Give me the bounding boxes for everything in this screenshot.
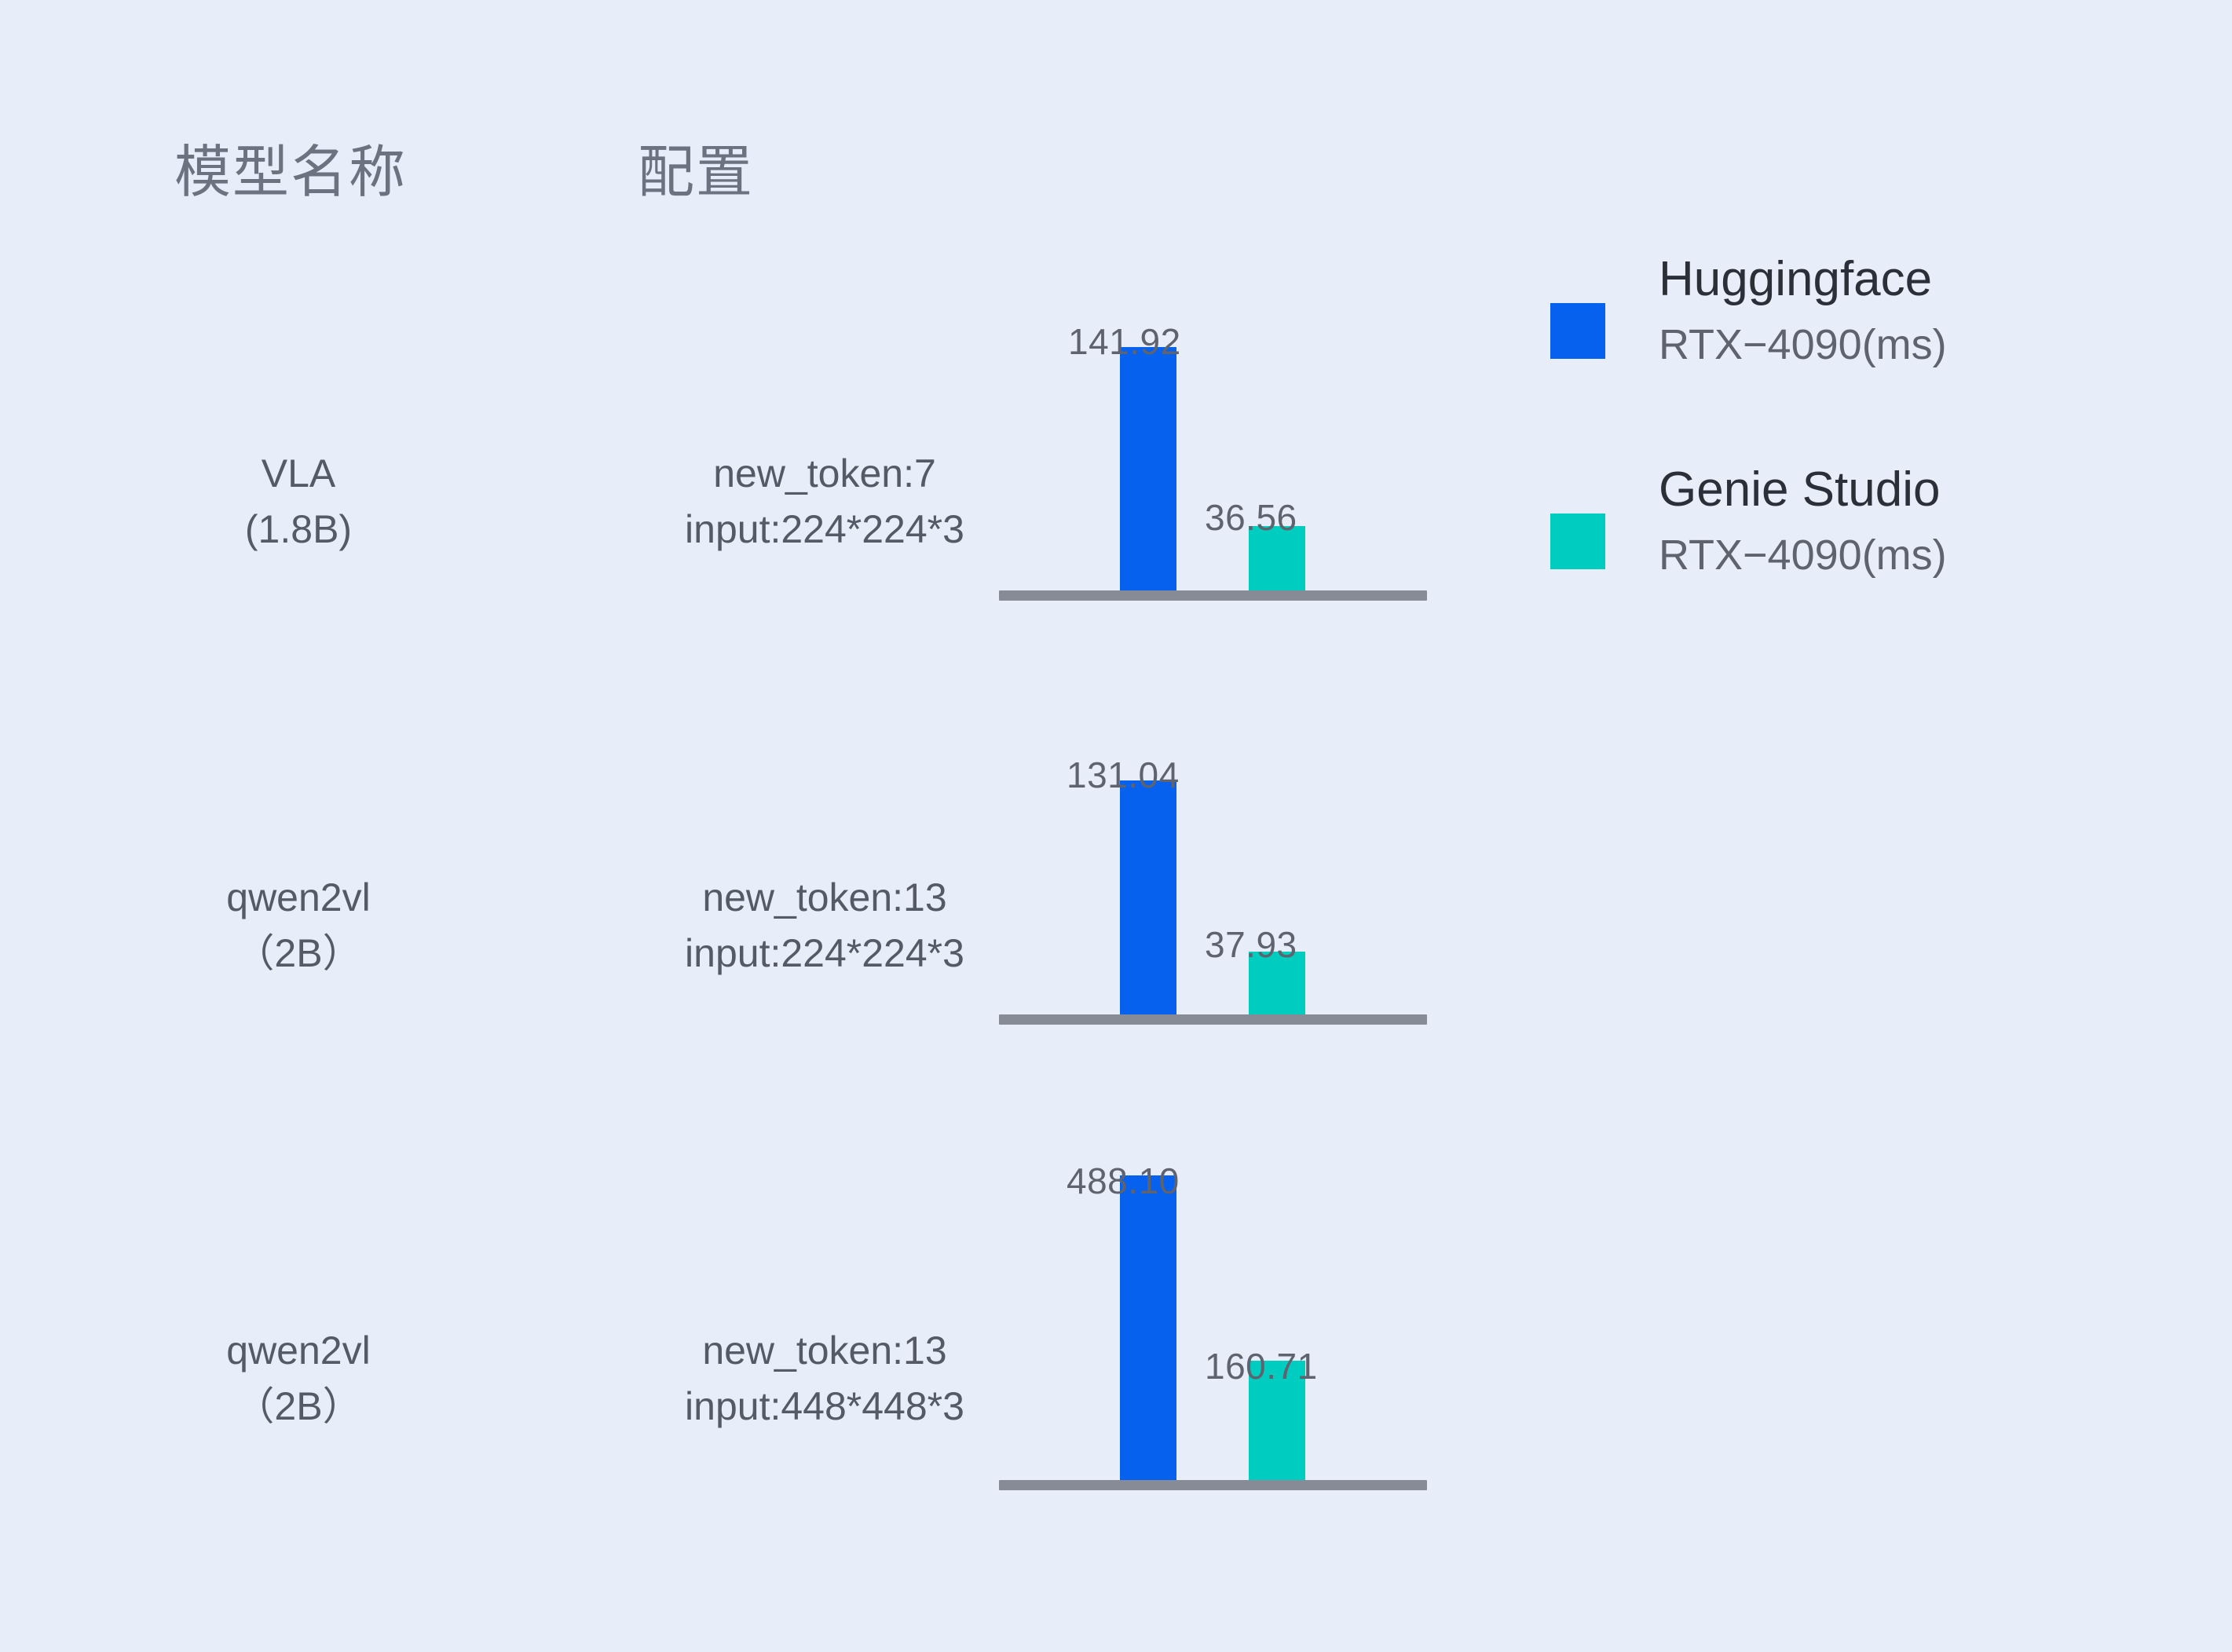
bar-value-genie-studio: 36.56 bbox=[1205, 496, 1297, 539]
row-axis-baseline bbox=[999, 1014, 1427, 1025]
bar-value-huggingface: 488.10 bbox=[1067, 1160, 1180, 1202]
bar-huggingface bbox=[1120, 1175, 1176, 1480]
legend-item-huggingface: Huggingface RTX−4090(ms) bbox=[1539, 251, 2183, 408]
cell-model-name: qwen2vl （2B） bbox=[141, 1323, 456, 1435]
row-axis-baseline bbox=[999, 1480, 1427, 1490]
bar-huggingface bbox=[1120, 347, 1176, 590]
row-axis-baseline bbox=[999, 590, 1427, 601]
cell-model-name: VLA (1.8B) bbox=[141, 446, 456, 557]
bar-value-genie-studio: 160.71 bbox=[1205, 1345, 1318, 1387]
legend-label-detail: RTX−4090(ms) bbox=[1659, 320, 1947, 369]
legend-label-detail: RTX−4090(ms) bbox=[1659, 531, 1947, 579]
bar-value-genie-studio: 37.93 bbox=[1205, 923, 1297, 966]
bar-group: 488.10 160.71 bbox=[999, 1095, 1427, 1480]
bar-value-huggingface: 131.04 bbox=[1067, 754, 1180, 796]
table-row: qwen2vl （2B） new_token:13 input:224*224*… bbox=[0, 660, 2232, 1036]
legend-color-swatch-icon bbox=[1550, 303, 1605, 359]
legend-color-swatch-icon bbox=[1550, 514, 1605, 569]
row-bar-chart: 141.92 36.56 bbox=[999, 236, 1427, 597]
legend-label-name: Genie Studio bbox=[1659, 462, 1940, 517]
table-row: qwen2vl （2B） new_token:13 input:448*448*… bbox=[0, 1095, 2232, 1488]
cell-model-name: qwen2vl （2B） bbox=[141, 870, 456, 981]
legend-item-genie-studio: Genie Studio RTX−4090(ms) bbox=[1539, 462, 2183, 619]
row-bar-chart: 488.10 160.71 bbox=[999, 1095, 1427, 1488]
bar-group: 141.92 36.56 bbox=[999, 236, 1427, 590]
legend-label-name: Huggingface bbox=[1659, 251, 1932, 307]
benchmark-rows: VLA (1.8B) new_token:7 input:224*224*3 1… bbox=[0, 0, 2232, 1652]
row-bar-chart: 131.04 37.93 bbox=[999, 660, 1427, 1021]
bar-huggingface bbox=[1120, 780, 1176, 1014]
bar-value-huggingface: 141.92 bbox=[1068, 320, 1181, 363]
bar-group: 131.04 37.93 bbox=[999, 660, 1427, 1014]
